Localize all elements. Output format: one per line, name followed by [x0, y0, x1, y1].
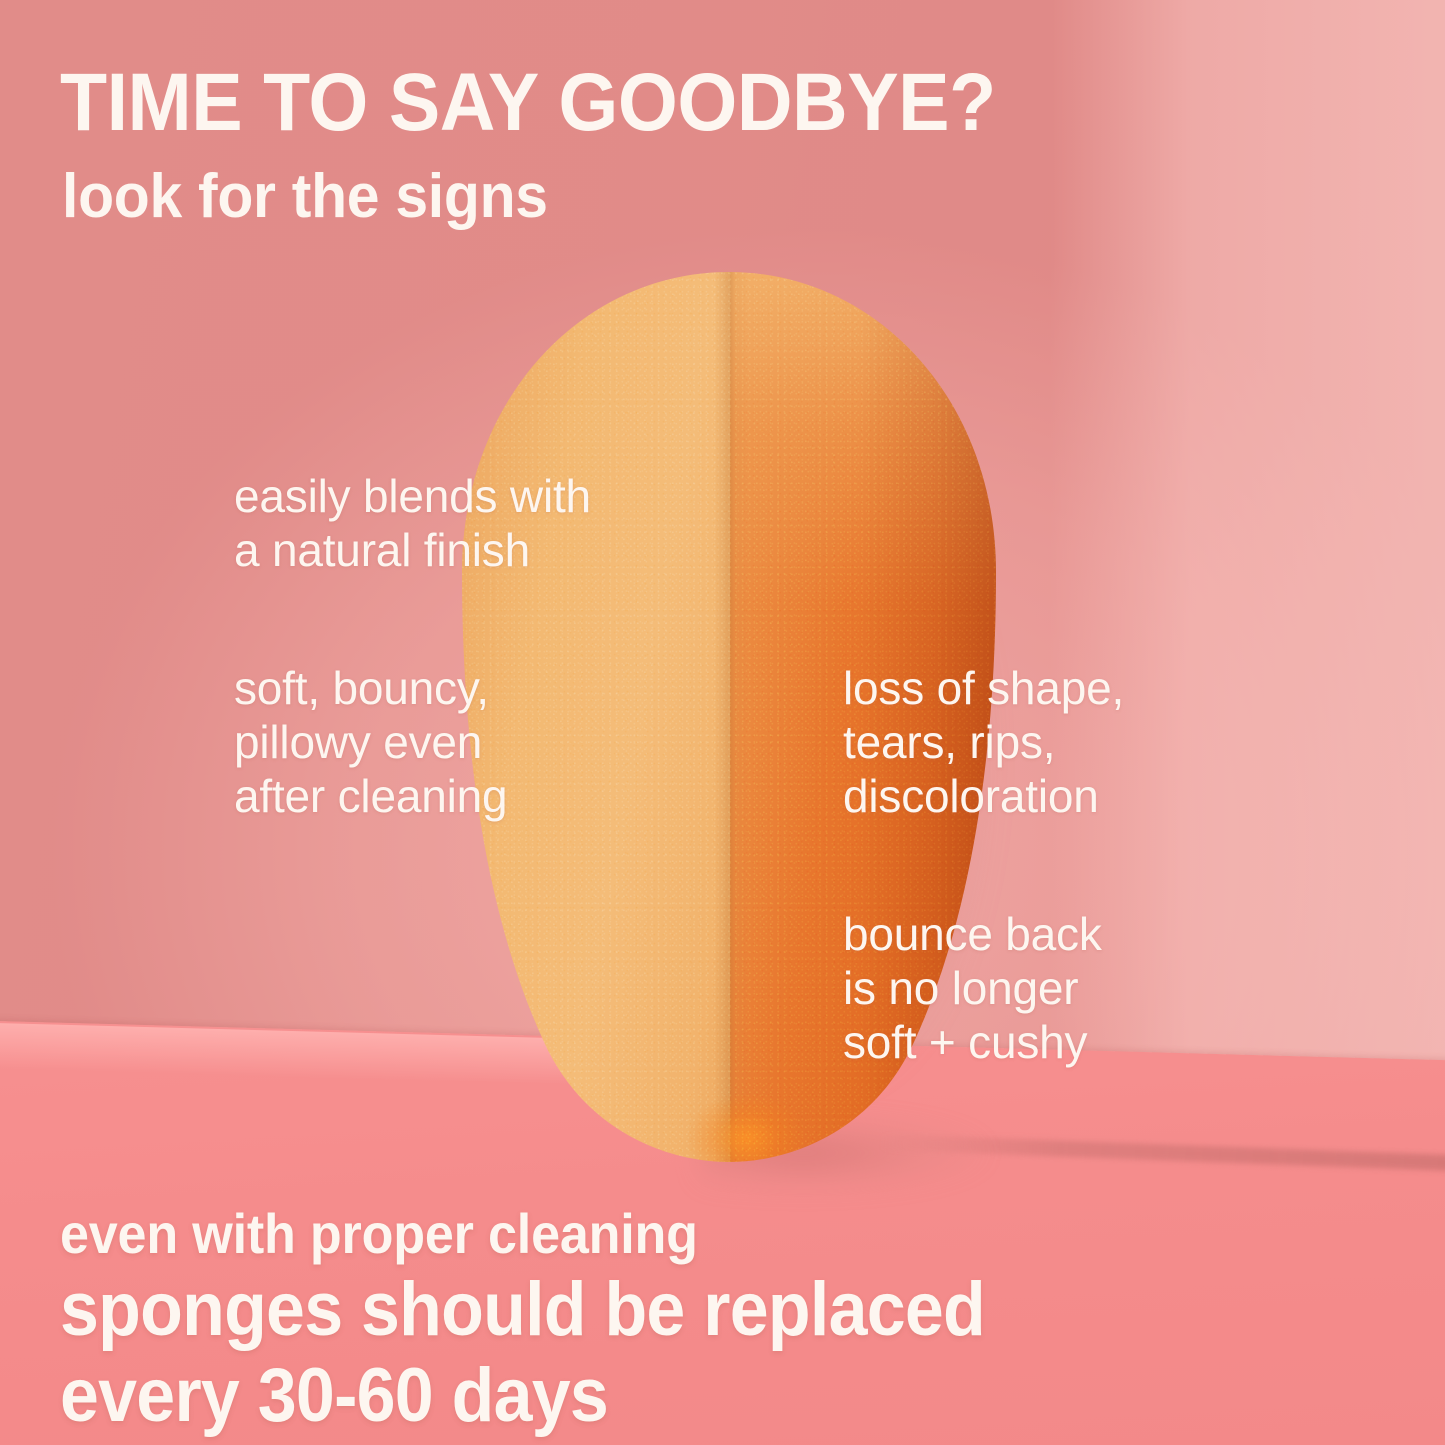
- callout-bad-shape-loss: loss of shape, tears, rips, discoloratio…: [843, 662, 1124, 823]
- page-title: TIME TO SAY GOODBYE?: [60, 62, 996, 144]
- callout-bad-bounce-back: bounce back is no longer soft + cushy: [843, 908, 1102, 1069]
- footer-line-3: every 30-60 days: [60, 1358, 985, 1434]
- footer-line-1: even with proper cleaning: [60, 1206, 995, 1262]
- callout-good-blending: easily blends with a natural finish: [234, 470, 591, 578]
- footer-line-2: sponges should be replaced: [60, 1272, 985, 1348]
- page-subtitle: look for the signs: [62, 166, 548, 228]
- callout-good-softness: soft, bouncy, pillowy even after cleanin…: [234, 662, 507, 823]
- poster-canvas: TIME TO SAY GOODBYE? look for the signs …: [0, 0, 1445, 1445]
- footer-message: even with proper cleaning sponges should…: [60, 1206, 1065, 1434]
